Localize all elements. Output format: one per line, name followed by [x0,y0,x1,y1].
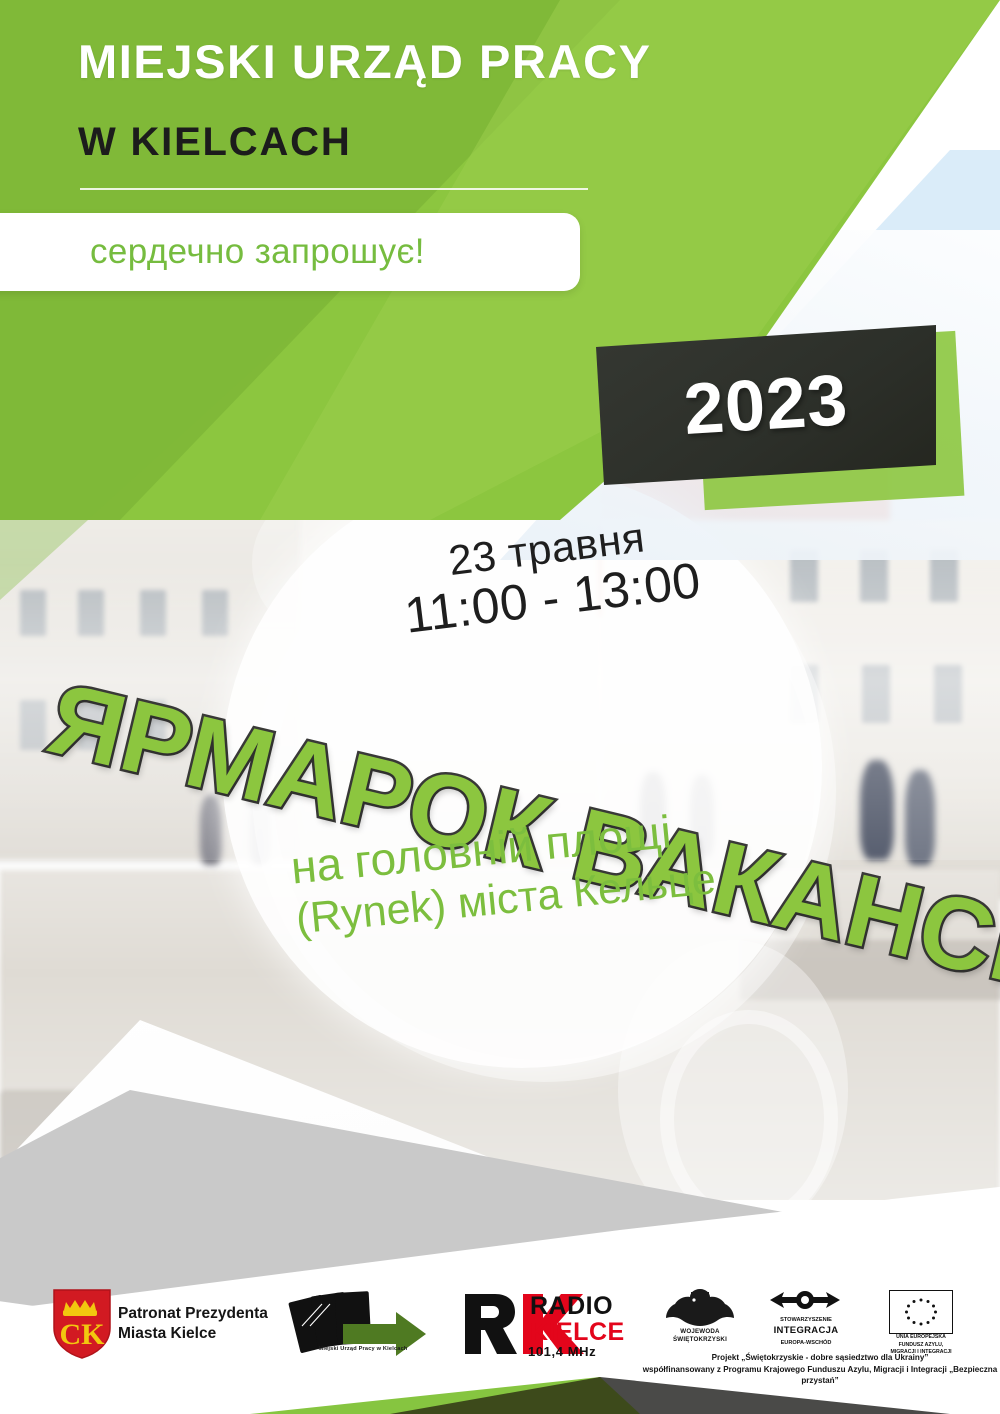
integracja-line2: INTEGRACJA [756,1324,856,1338]
project-fine-print: Projekt „Świętokrzyskie - dobre sąsiedzt… [640,1352,1000,1387]
eu-line1: UNIA EUROPEJSKA [884,1334,958,1342]
eu-line2: FUNDUSZ AZYLU, [884,1342,958,1350]
mup-logo-caption: Miejski Urząd Pracy w Kielcach [290,1346,436,1352]
radio-frequency: 101,4 MHz [528,1344,596,1359]
page-title-line2: W KIELCACH [78,121,352,164]
header-divider [80,188,588,190]
shield-letters: CK [60,1318,106,1351]
fine-print-line1: Projekt „Świętokrzyskie - dobre sąsiedzt… [640,1352,1000,1364]
integracja-logo-icon [762,1286,848,1316]
window [20,700,46,750]
patronage-line1: Patronat Prezydenta [118,1304,268,1324]
window [934,665,962,723]
invitation-banner: сердечно запрошує! [0,213,580,291]
window [140,590,166,636]
window [202,590,228,636]
kielce-word: KIELCE [530,1318,625,1347]
invitation-text: сердечно запрошує! [90,232,425,272]
footer-logos: CK Patronat Prezydenta Miasta Kielce Mie… [0,1280,1000,1390]
wojewoda-line1: WOJEWODA [655,1328,745,1336]
window [78,590,104,636]
integracja-caption: STOWARZYSZENIE INTEGRACJA EUROPA-WSCHÓD [756,1316,856,1347]
mup-logo-icon [288,1286,438,1366]
wojewoda-caption: WOJEWODA ŚWIĘTOKRZYSKI [655,1328,745,1345]
patronage-line2: Miasta Kielce [118,1324,268,1344]
kielce-coat-of-arms-icon: CK [52,1288,112,1360]
window [20,590,46,636]
wojewoda-line2: ŚWIĘTOKRZYSKI [655,1336,745,1344]
polish-eagle-icon [660,1286,740,1332]
patronage-text: Patronat Prezydenta Miasta Kielce [118,1304,268,1344]
integracja-line1: STOWARZYSZENIE [756,1316,856,1324]
integracja-line3: EUROPA-WSCHÓD [756,1339,856,1347]
window [790,665,818,723]
window [862,665,890,723]
fine-print-line2: współfinansowany z Programu Krajowego Fu… [640,1364,1000,1387]
poster-root: MIEJSKI URZĄD PRACY W KIELCACH сердечно … [0,0,1000,1414]
badge-dark-panel [596,325,936,485]
page-title-line1: MIEJSKI URZĄD PRACY [78,37,652,88]
radio-word: RADIO [530,1292,613,1321]
eu-flag-icon [889,1290,953,1334]
